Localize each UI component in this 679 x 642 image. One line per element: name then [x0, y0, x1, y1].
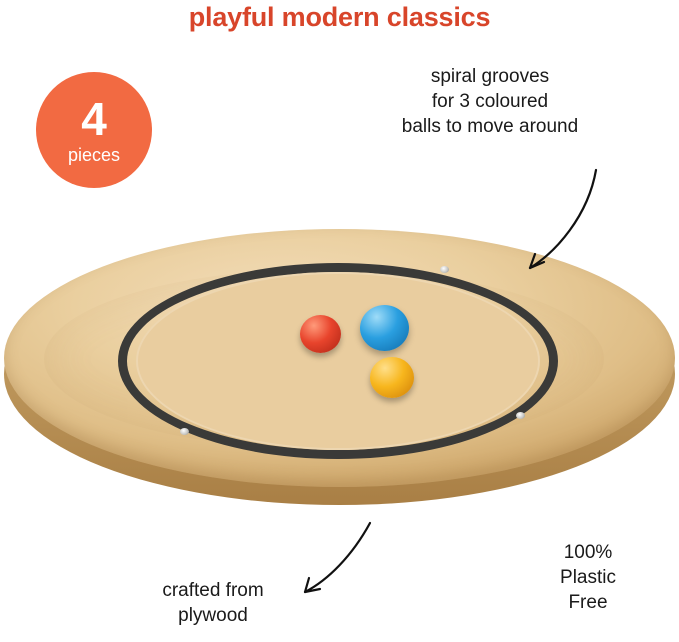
board-top-surface: [4, 229, 675, 487]
callout-plywood-line1: crafted from: [108, 578, 318, 603]
callout-plastic-free: 100% Plastic Free: [528, 540, 648, 615]
groove-track-highlight: [136, 272, 540, 450]
product-image: [0, 225, 679, 515]
callout-plastic-line3: Free: [528, 590, 648, 615]
callout-plywood: crafted from plywood: [108, 578, 318, 628]
callout-spiral-line3: balls to move around: [368, 114, 612, 139]
callout-plastic-line1: 100%: [528, 540, 648, 565]
yellow-ball: [370, 357, 414, 398]
callout-plastic-line2: Plastic: [528, 565, 648, 590]
pieces-badge-number: 4: [81, 96, 107, 142]
screw-top: [440, 266, 449, 273]
callout-spiral-grooves: spiral grooves for 3 coloured balls to m…: [368, 64, 612, 139]
pieces-badge: 4 pieces: [36, 72, 152, 188]
callout-spiral-line2: for 3 coloured: [368, 89, 612, 114]
pieces-badge-label: pieces: [68, 146, 120, 164]
screw-right: [516, 412, 525, 419]
page-title: playful modern classics: [0, 2, 679, 33]
blue-ball: [360, 305, 409, 351]
callout-spiral-line1: spiral grooves: [368, 64, 612, 89]
red-ball: [300, 315, 341, 353]
screw-bottom-left: [180, 428, 189, 435]
callout-plywood-line2: plywood: [108, 603, 318, 628]
